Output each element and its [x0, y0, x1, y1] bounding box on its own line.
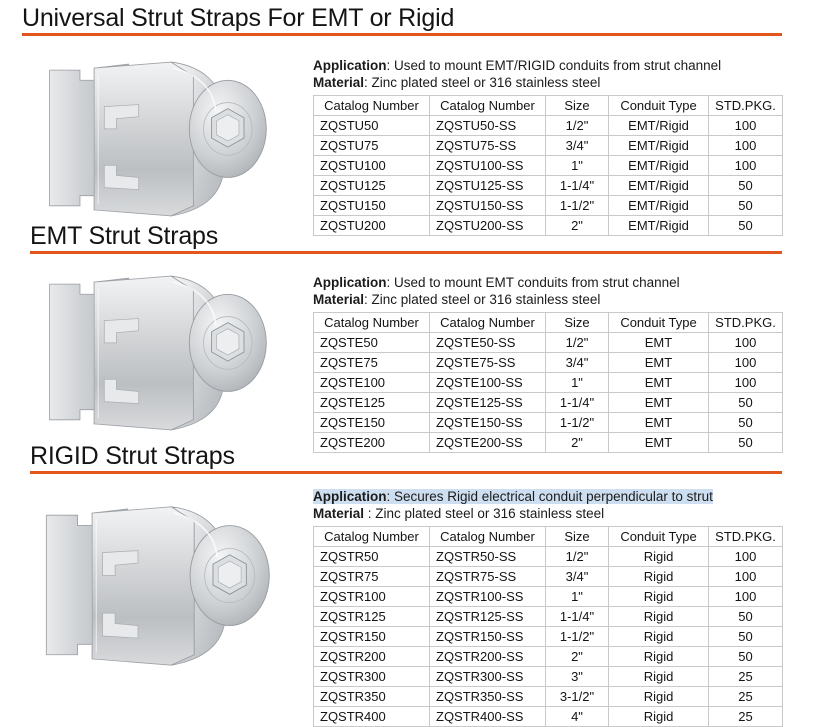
column-header: STD.PKG. [709, 527, 783, 547]
table-cell: 3/4" [546, 353, 609, 373]
table-row: ZQSTU100ZQSTU100-SS1"EMT/Rigid100 [314, 156, 783, 176]
table-cell: ZQSTR150 [314, 627, 430, 647]
table-cell: ZQSTU100-SS [430, 156, 546, 176]
column-header: Catalog Number [314, 313, 430, 333]
application-text-wrap: Application: Used to mount EMT/RIGID con… [313, 58, 721, 73]
application-line: Application: Used to mount EMT/RIGID con… [313, 58, 782, 75]
table-cell: 4" [546, 707, 609, 727]
column-header: Catalog Number [430, 96, 546, 116]
table-cell: 1-1/2" [546, 627, 609, 647]
table-cell: ZQSTE125 [314, 393, 430, 413]
application-label: Application [313, 489, 387, 504]
table-cell: 25 [709, 687, 783, 707]
table-cell: ZQSTR200 [314, 647, 430, 667]
table-cell: ZQSTE75 [314, 353, 430, 373]
material-label: Material [313, 292, 364, 307]
table-cell: ZQSTU150-SS [430, 196, 546, 216]
material-line: Material: Zinc plated steel or 316 stain… [313, 75, 782, 92]
parts-table: Catalog NumberCatalog NumberSizeConduit … [313, 95, 783, 236]
strut-strap-illustration [38, 58, 288, 220]
section-heading: RIGID Strut Straps [30, 443, 836, 469]
table-cell: 1" [546, 156, 609, 176]
application-label: Application [313, 58, 387, 73]
application-text-wrap: Application: Used to mount EMT conduits … [313, 275, 680, 290]
table-cell: ZQSTR150-SS [430, 627, 546, 647]
column-header: Size [546, 96, 609, 116]
table-row: ZQSTR125ZQSTR125-SS1-1/4"Rigid50 [314, 607, 783, 627]
spec-block: Application: Secures Rigid electrical co… [313, 489, 782, 727]
table-cell: 2" [546, 647, 609, 667]
table-cell: EMT [609, 393, 709, 413]
table-cell: EMT/Rigid [609, 196, 709, 216]
table-cell: 1/2" [546, 116, 609, 136]
table-cell: ZQSTU75-SS [430, 136, 546, 156]
spec-block: Application: Used to mount EMT/RIGID con… [313, 58, 782, 236]
table-cell: ZQSTR100-SS [430, 587, 546, 607]
table-cell: ZQSTR350 [314, 687, 430, 707]
table-cell: 50 [709, 647, 783, 667]
table-row: ZQSTR100ZQSTR100-SS1"Rigid100 [314, 587, 783, 607]
table-cell: ZQSTE150 [314, 413, 430, 433]
table-cell: EMT [609, 333, 709, 353]
column-header: Catalog Number [430, 313, 546, 333]
product-section: Universal Strut Straps For EMT or Rigid [0, 5, 836, 36]
table-cell: Rigid [609, 707, 709, 727]
table-cell: ZQSTR50 [314, 547, 430, 567]
spec-block: Application: Used to mount EMT conduits … [313, 275, 782, 453]
table-cell: Rigid [609, 667, 709, 687]
table-row: ZQSTR400ZQSTR400-SS4"Rigid25 [314, 707, 783, 727]
table-cell: 100 [709, 353, 783, 373]
table-row: ZQSTR300ZQSTR300-SS3"Rigid25 [314, 667, 783, 687]
table-cell: ZQSTE125-SS [430, 393, 546, 413]
table-row: ZQSTR200ZQSTR200-SS2"Rigid50 [314, 647, 783, 667]
table-cell: 1" [546, 373, 609, 393]
table-cell: 100 [709, 116, 783, 136]
table-cell: ZQSTR100 [314, 587, 430, 607]
application-value: : Secures Rigid electrical conduit perpe… [387, 489, 713, 504]
table-row: ZQSTU125ZQSTU125-SS1-1/4"EMT/Rigid50 [314, 176, 783, 196]
table-cell: ZQSTE50-SS [430, 333, 546, 353]
table-row: ZQSTR150ZQSTR150-SS1-1/2"Rigid50 [314, 627, 783, 647]
table-cell: EMT/Rigid [609, 136, 709, 156]
material-label: Material [313, 506, 364, 521]
table-row: ZQSTR350ZQSTR350-SS3-1/2"Rigid25 [314, 687, 783, 707]
section-divider-rule [22, 33, 782, 36]
table-cell: 1-1/4" [546, 176, 609, 196]
table-header-row: Catalog NumberCatalog NumberSizeConduit … [314, 527, 783, 547]
table-cell: ZQSTU50-SS [430, 116, 546, 136]
material-line: Material : Zinc plated steel or 316 stai… [313, 506, 782, 523]
table-cell: 100 [709, 156, 783, 176]
table-cell: 3/4" [546, 136, 609, 156]
table-row: ZQSTE75ZQSTE75-SS3/4"EMT100 [314, 353, 783, 373]
table-cell: 1-1/2" [546, 196, 609, 216]
table-cell: ZQSTR200-SS [430, 647, 546, 667]
product-photo [38, 58, 288, 220]
product-section: RIGID Strut Straps [0, 443, 836, 474]
column-header: STD.PKG. [709, 313, 783, 333]
column-header: Catalog Number [430, 527, 546, 547]
application-line: Application: Used to mount EMT conduits … [313, 275, 782, 292]
table-cell: ZQSTR400 [314, 707, 430, 727]
table-cell: Rigid [609, 687, 709, 707]
table-cell: ZQSTU75 [314, 136, 430, 156]
table-cell: 50 [709, 607, 783, 627]
material-label: Material [313, 75, 364, 90]
table-cell: EMT/Rigid [609, 176, 709, 196]
table-cell: Rigid [609, 567, 709, 587]
table-cell: 1-1/4" [546, 607, 609, 627]
application-label: Application [313, 275, 387, 290]
table-cell: ZQSTR300-SS [430, 667, 546, 687]
table-cell: EMT [609, 353, 709, 373]
application-value: : Used to mount EMT/RIGID conduits from … [387, 58, 722, 73]
table-cell: ZQSTU125 [314, 176, 430, 196]
column-header: STD.PKG. [709, 96, 783, 116]
product-photo [38, 272, 288, 434]
table-cell: 100 [709, 373, 783, 393]
table-cell: 1" [546, 587, 609, 607]
table-cell: ZQSTR300 [314, 667, 430, 687]
table-cell: ZQSTU125-SS [430, 176, 546, 196]
table-cell: ZQSTR125 [314, 607, 430, 627]
table-row: ZQSTR50ZQSTR50-SS1/2"Rigid100 [314, 547, 783, 567]
material-value: : Zinc plated steel or 316 stainless ste… [364, 506, 604, 521]
column-header: Size [546, 313, 609, 333]
column-header: Size [546, 527, 609, 547]
table-cell: 25 [709, 707, 783, 727]
table-cell: EMT [609, 413, 709, 433]
application-text-wrap: Application: Secures Rigid electrical co… [313, 489, 713, 504]
table-cell: Rigid [609, 607, 709, 627]
column-header: Conduit Type [609, 527, 709, 547]
material-line: Material: Zinc plated steel or 316 stain… [313, 292, 782, 309]
table-cell: 1-1/4" [546, 393, 609, 413]
table-cell: 100 [709, 547, 783, 567]
table-row: ZQSTR75ZQSTR75-SS3/4"Rigid100 [314, 567, 783, 587]
table-cell: 1/2" [546, 547, 609, 567]
table-cell: 100 [709, 136, 783, 156]
table-row: ZQSTU75ZQSTU75-SS3/4"EMT/Rigid100 [314, 136, 783, 156]
table-cell: ZQSTU150 [314, 196, 430, 216]
table-cell: ZQSTR50-SS [430, 547, 546, 567]
section-divider-rule [30, 251, 782, 254]
parts-table: Catalog NumberCatalog NumberSizeConduit … [313, 312, 783, 453]
table-cell: ZQSTR400-SS [430, 707, 546, 727]
column-header: Conduit Type [609, 313, 709, 333]
table-cell: 50 [709, 413, 783, 433]
table-cell: ZQSTU100 [314, 156, 430, 176]
table-header-row: Catalog NumberCatalog NumberSizeConduit … [314, 313, 783, 333]
strut-strap-illustration [38, 498, 288, 674]
column-header: Catalog Number [314, 96, 430, 116]
material-value: : Zinc plated steel or 316 stainless ste… [364, 75, 600, 90]
table-cell: 50 [709, 393, 783, 413]
table-row: ZQSTE125ZQSTE125-SS1-1/4"EMT50 [314, 393, 783, 413]
strut-strap-illustration [38, 272, 288, 434]
table-row: ZQSTE100ZQSTE100-SS1"EMT100 [314, 373, 783, 393]
column-header: Catalog Number [314, 527, 430, 547]
table-cell: 50 [709, 176, 783, 196]
table-cell: ZQSTU50 [314, 116, 430, 136]
table-row: ZQSTU50ZQSTU50-SS1/2"EMT/Rigid100 [314, 116, 783, 136]
table-cell: 100 [709, 567, 783, 587]
table-cell: EMT/Rigid [609, 156, 709, 176]
table-cell: Rigid [609, 547, 709, 567]
table-cell: ZQSTE150-SS [430, 413, 546, 433]
table-cell: 25 [709, 667, 783, 687]
application-value: : Used to mount EMT conduits from strut … [387, 275, 680, 290]
table-row: ZQSTE50ZQSTE50-SS1/2"EMT100 [314, 333, 783, 353]
table-cell: 3-1/2" [546, 687, 609, 707]
section-heading: EMT Strut Straps [30, 223, 836, 249]
parts-table: Catalog NumberCatalog NumberSizeConduit … [313, 526, 783, 727]
product-section: EMT Strut Straps [0, 223, 836, 254]
table-header-row: Catalog NumberCatalog NumberSizeConduit … [314, 96, 783, 116]
table-cell: ZQSTE100 [314, 373, 430, 393]
table-cell: 3/4" [546, 567, 609, 587]
table-cell: Rigid [609, 627, 709, 647]
section-heading: Universal Strut Straps For EMT or Rigid [22, 5, 836, 31]
table-cell: ZQSTR75 [314, 567, 430, 587]
table-cell: ZQSTE100-SS [430, 373, 546, 393]
table-cell: Rigid [609, 647, 709, 667]
section-divider-rule [30, 471, 782, 474]
column-header: Conduit Type [609, 96, 709, 116]
catalog-page: Universal Strut Straps For EMT or Rigid [0, 0, 836, 703]
table-cell: ZQSTR75-SS [430, 567, 546, 587]
table-cell: EMT [609, 373, 709, 393]
table-cell: EMT/Rigid [609, 116, 709, 136]
table-cell: 50 [709, 627, 783, 647]
table-cell: 3" [546, 667, 609, 687]
product-photo [38, 498, 288, 674]
table-row: ZQSTU150ZQSTU150-SS1-1/2"EMT/Rigid50 [314, 196, 783, 216]
table-cell: 1-1/2" [546, 413, 609, 433]
table-cell: ZQSTR125-SS [430, 607, 546, 627]
table-cell: 100 [709, 587, 783, 607]
table-row: ZQSTE150ZQSTE150-SS1-1/2"EMT50 [314, 413, 783, 433]
table-cell: Rigid [609, 587, 709, 607]
table-cell: ZQSTE50 [314, 333, 430, 353]
table-cell: 1/2" [546, 333, 609, 353]
table-cell: 50 [709, 196, 783, 216]
application-line: Application: Secures Rigid electrical co… [313, 489, 782, 506]
material-value: : Zinc plated steel or 316 stainless ste… [364, 292, 600, 307]
table-cell: ZQSTR350-SS [430, 687, 546, 707]
table-cell: 100 [709, 333, 783, 353]
table-cell: ZQSTE75-SS [430, 353, 546, 373]
